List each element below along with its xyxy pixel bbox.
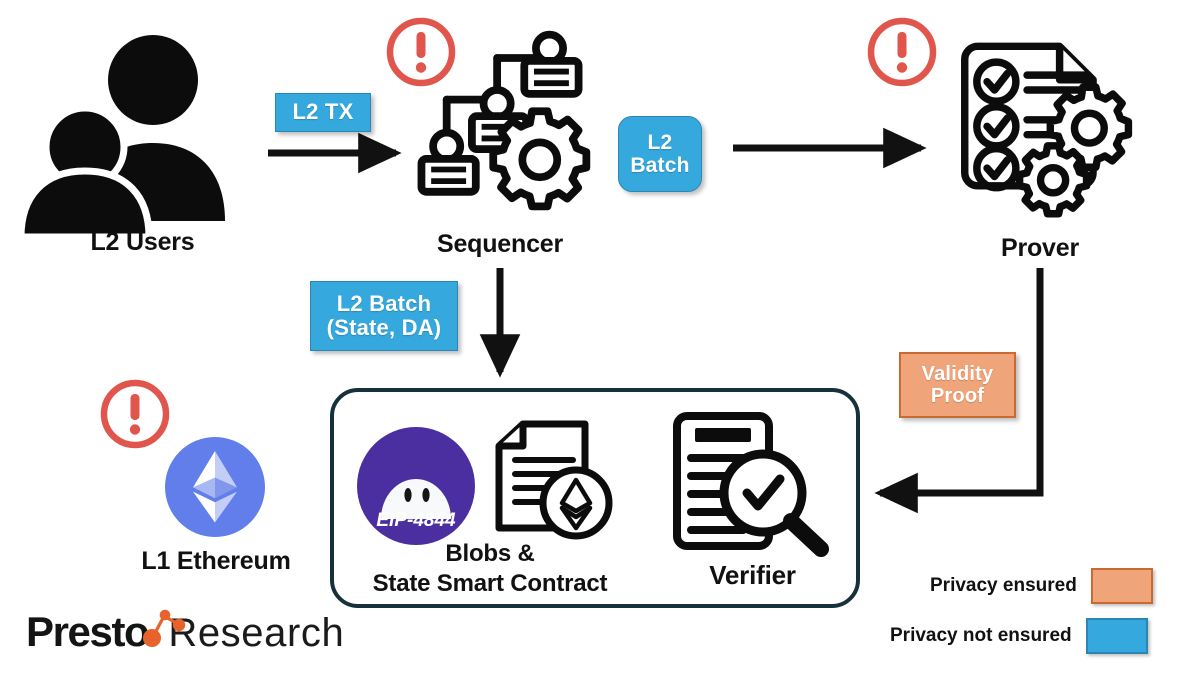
legend-item-privacy-ensured: Privacy ensured (930, 568, 1153, 604)
document-magnifier-check-icon (665, 410, 837, 560)
gear-icon (493, 111, 586, 206)
legend-label-privacy-not-ensured: Privacy not ensured (890, 625, 1072, 647)
warning-icon-l1 (99, 378, 171, 450)
warning-icon-prover (866, 16, 938, 88)
legend-label-privacy-ensured: Privacy ensured (930, 575, 1077, 597)
chip-validity-proof-line2: Proof (931, 385, 984, 407)
presto-molecule-icon (138, 604, 188, 650)
node-label-blobs-line1: Blobs & (355, 541, 625, 568)
diagram-canvas: L2 Users L2 TX (0, 0, 1200, 675)
blob-badge-text: EIP-4844 (376, 510, 456, 531)
chip-validity-proof: Validity Proof (899, 352, 1016, 418)
chip-l2-batch-state-da-line1: L2 Batch (337, 292, 432, 316)
node-label-l1-ethereum: L1 Ethereum (118, 547, 314, 575)
brand-name-bold: Presto (26, 608, 148, 656)
legend-swatch-orange (1091, 568, 1153, 604)
chip-l2-batch-line1: L2 (648, 131, 673, 154)
node-label-verifier: Verifier (655, 561, 850, 590)
node-label-sequencer: Sequencer (395, 230, 605, 258)
legend-item-privacy-not-ensured: Privacy not ensured (890, 618, 1148, 654)
node-label-l2-users: L2 Users (40, 228, 245, 256)
ethereum-logo-icon (165, 437, 265, 537)
gear-icon-small (1020, 146, 1087, 214)
legend-swatch-blue (1086, 618, 1148, 654)
chip-l2-batch-state-da-line2: (State, DA) (327, 316, 442, 340)
brand-name-light: Research (168, 611, 344, 656)
chip-validity-proof-line1: Validity (922, 363, 994, 385)
chip-l2-batch-state-da: L2 Batch (State, DA) (310, 281, 458, 351)
node-label-blobs-line2: State Smart Contract (355, 571, 625, 598)
chip-l2-tx-label: L2 TX (293, 100, 354, 124)
blob-eip4844-icon: EIP-4844 (357, 427, 475, 545)
node-label-prover: Prover (940, 234, 1140, 262)
two-users-icon (35, 25, 225, 220)
blob-document-ethereum-icon (487, 418, 612, 543)
chip-l2-tx: L2 TX (275, 93, 371, 132)
sequencer-network-gear-icon (404, 24, 598, 218)
checklist-gears-icon (948, 24, 1134, 210)
chip-l2-batch: L2 Batch (618, 116, 702, 192)
chip-l2-batch-line2: Batch (630, 154, 689, 177)
